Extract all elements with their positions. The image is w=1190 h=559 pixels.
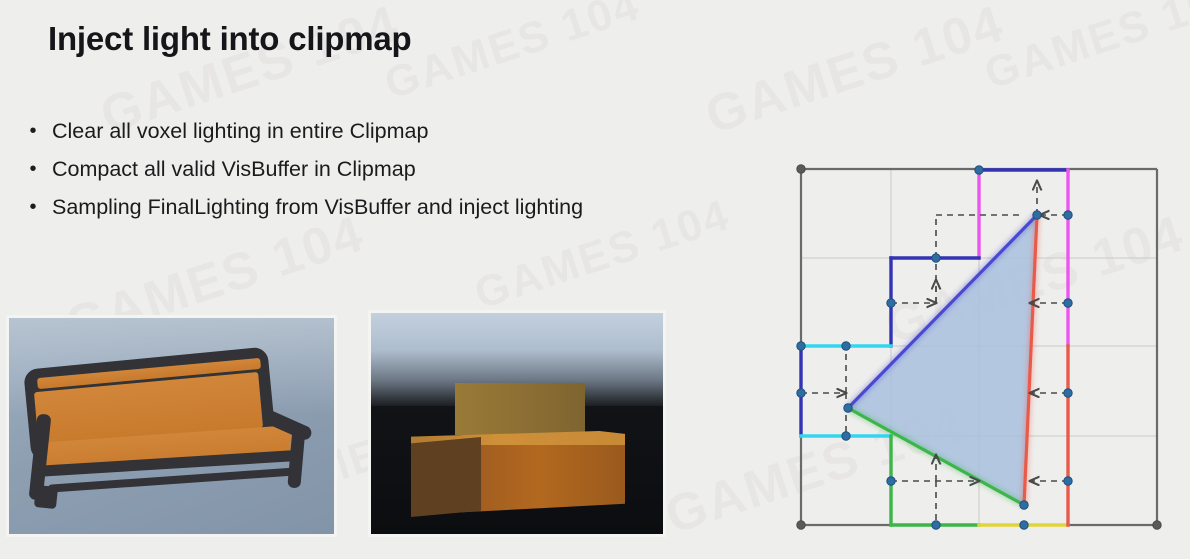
diagram-node bbox=[797, 165, 805, 173]
bullet-marker-icon: • bbox=[14, 192, 52, 222]
diagram-node bbox=[797, 389, 805, 397]
slide-root: GAMES 104GAMES 104GAMES 104GAMES 104GAME… bbox=[0, 0, 1190, 559]
triangle-edge-glow bbox=[1024, 215, 1037, 505]
bullet-marker-icon: • bbox=[14, 116, 52, 146]
triangle-right-edge bbox=[1024, 215, 1037, 505]
bullet-item-label: Clear all voxel lighting in entire Clipm… bbox=[52, 116, 428, 146]
triangle-edge-glow bbox=[848, 408, 1024, 505]
diagram-dashed-arrows bbox=[801, 181, 1068, 525]
diagram-node bbox=[1020, 501, 1028, 509]
image-bench-render bbox=[6, 315, 337, 537]
diagram-node bbox=[844, 404, 852, 412]
bullet-item-label: Sampling FinalLighting from VisBuffer an… bbox=[52, 192, 583, 222]
diagram-triangle bbox=[848, 215, 1037, 505]
diagram-node bbox=[1064, 211, 1072, 219]
diagram-edge-glow bbox=[801, 170, 1068, 525]
bullet-item: •Clear all voxel lighting in entire Clip… bbox=[14, 116, 754, 148]
diagram-triangle-edges bbox=[848, 215, 1037, 505]
bullet-item: •Compact all valid VisBuffer in Clipmap bbox=[14, 154, 754, 186]
voxel-left-block bbox=[411, 437, 481, 517]
diagram-node bbox=[887, 477, 895, 485]
diagram-node bbox=[1020, 521, 1028, 529]
bullet-list: •Clear all voxel lighting in entire Clip… bbox=[14, 116, 754, 230]
watermark-text: GAMES 104 bbox=[979, 0, 1190, 100]
bench-voxel-canvas bbox=[371, 313, 663, 534]
bullet-item-label: Compact all valid VisBuffer in Clipmap bbox=[52, 154, 416, 184]
triangle-upper-left-edge bbox=[848, 215, 1037, 408]
triangle-lower-left-edge bbox=[848, 408, 1024, 505]
diagram-node bbox=[797, 521, 805, 529]
image-bench-voxel bbox=[368, 310, 666, 537]
diagram-node bbox=[932, 521, 940, 529]
diagram-node bbox=[887, 299, 895, 307]
diagram-node bbox=[842, 432, 850, 440]
watermark-text: GAMES 104 bbox=[878, 204, 1190, 357]
diagram-node bbox=[1064, 299, 1072, 307]
diagram-node bbox=[1064, 477, 1072, 485]
bench-render-canvas bbox=[9, 318, 334, 534]
diagram-node bbox=[1033, 211, 1041, 219]
voxel-backrest bbox=[455, 383, 585, 435]
bullet-marker-icon: • bbox=[14, 154, 52, 184]
diagram-grid bbox=[801, 169, 1157, 525]
watermark-text: GAMES 104 bbox=[379, 0, 646, 110]
diagram-nodes bbox=[797, 165, 1161, 529]
diagram-node bbox=[797, 342, 805, 350]
triangle-fill bbox=[848, 215, 1037, 505]
page-title: Inject light into clipmap bbox=[48, 20, 412, 58]
diagram-node bbox=[932, 254, 940, 262]
bullet-item: •Sampling FinalLighting from VisBuffer a… bbox=[14, 192, 754, 224]
diagram-node bbox=[1153, 521, 1161, 529]
diagram-node bbox=[842, 342, 850, 350]
diagram-staircase bbox=[801, 170, 1068, 525]
diagram-node bbox=[1064, 389, 1072, 397]
diagram-axis bbox=[801, 169, 1157, 525]
triangle-edge-glow bbox=[848, 215, 1037, 408]
watermark-text: GAMES 104 bbox=[658, 394, 971, 547]
diagram-node bbox=[975, 166, 983, 174]
